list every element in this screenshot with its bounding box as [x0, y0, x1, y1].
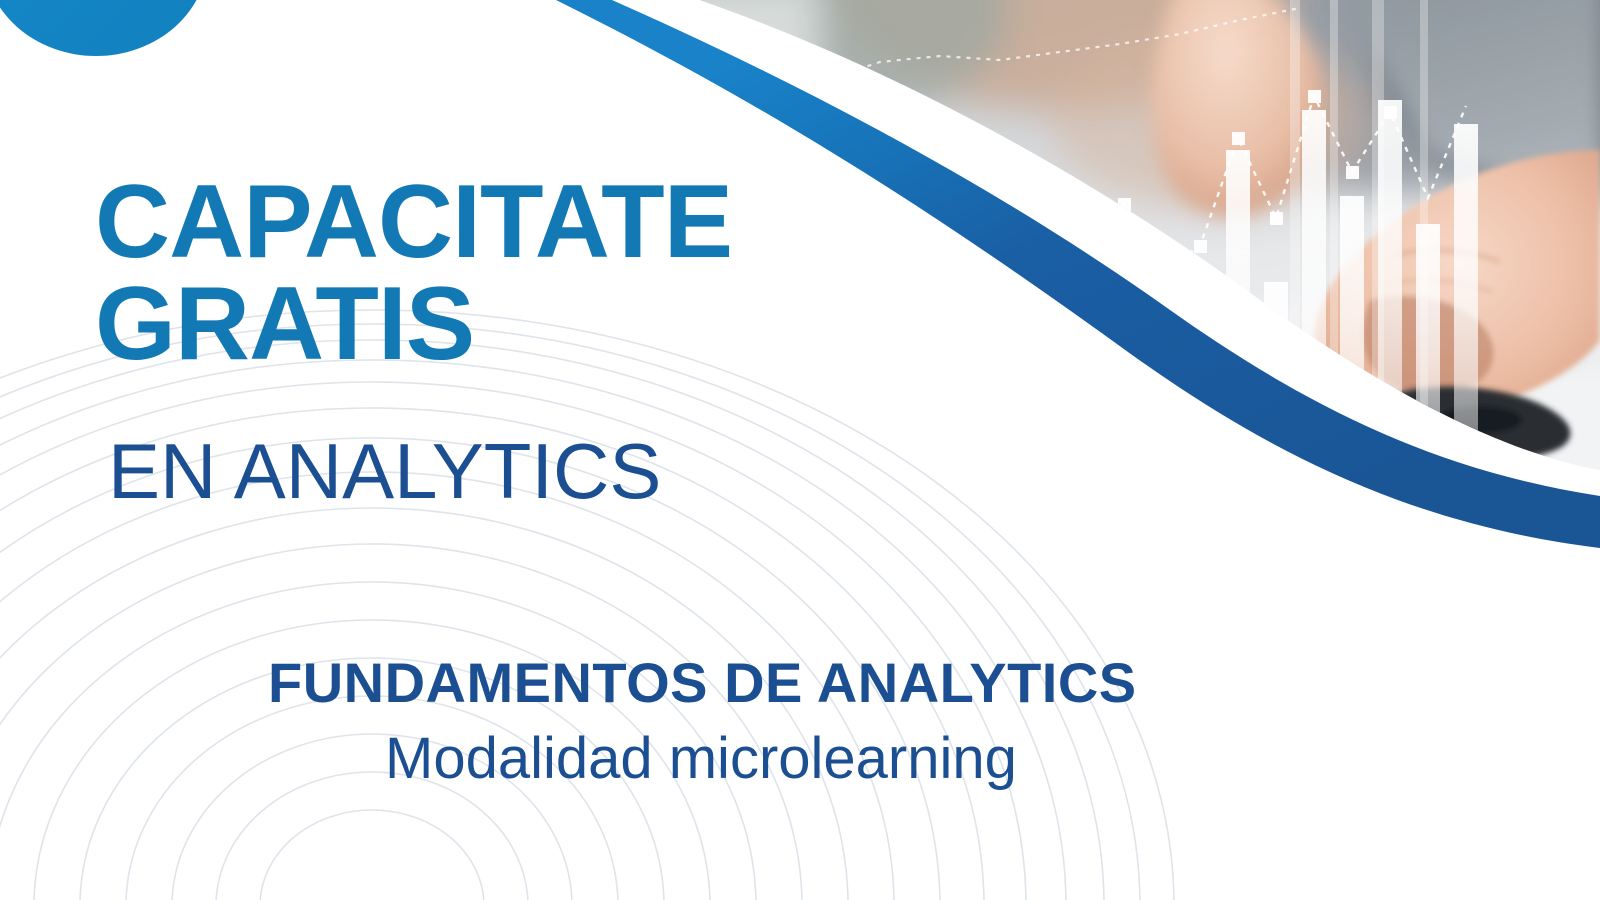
- headline-line-1: CAPACITATE: [95, 170, 732, 274]
- photo-mouse: [1388, 387, 1571, 460]
- photo-sleeve: [1330, 0, 1600, 210]
- course-title: FUNDAMENTOS DE ANALYTICS: [268, 655, 1137, 711]
- photo-hand-left: [1152, 0, 1326, 217]
- photo-hand-right: [1314, 150, 1600, 418]
- headline-line-3: EN ANALYTICS: [108, 432, 661, 510]
- photo-background-blur: [670, 0, 1600, 210]
- promo-poster: CAPACITATE GRATIS EN ANALYTICS FUNDAMENT…: [0, 0, 1600, 900]
- top-left-blue-blob: [0, 0, 208, 56]
- course-subtitle: Modalidad microlearning: [385, 730, 1017, 788]
- photo-content: [560, 0, 1600, 572]
- overlay-bar-chart: [760, 0, 1478, 470]
- headline-line-2: GRATIS: [95, 272, 474, 376]
